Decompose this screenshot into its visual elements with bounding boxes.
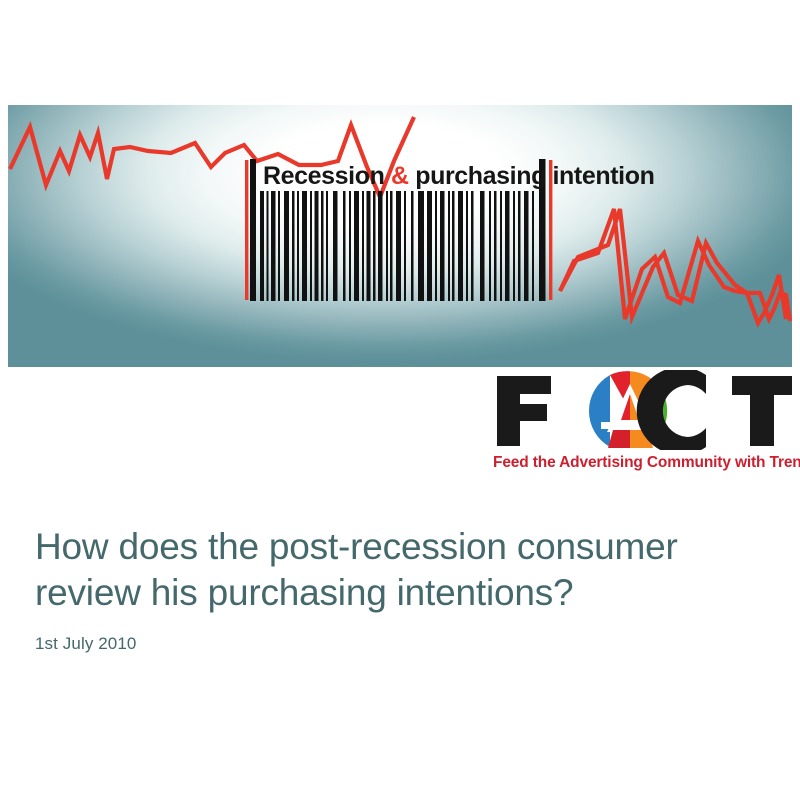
presentation-date: 1st July 2010 bbox=[35, 634, 765, 654]
logo-letter-c bbox=[637, 370, 740, 450]
barcode-caption: Recession & purchasing intention bbox=[263, 162, 654, 190]
barcode-guard-left bbox=[245, 160, 248, 300]
fact-wordmark bbox=[493, 370, 793, 450]
barcode-caption-before: Recession bbox=[263, 162, 391, 190]
barcode-graphic: Recession & purchasing intention bbox=[245, 159, 654, 301]
logo-letter-t bbox=[732, 376, 792, 446]
barcode-bars bbox=[260, 191, 534, 301]
page-title: How does the post-recession consumer rev… bbox=[35, 524, 765, 616]
fact-logo-mark bbox=[493, 370, 793, 450]
hero-banner-image: Recession & purchasing intention bbox=[8, 105, 792, 367]
chart-line-right-tail bbox=[560, 209, 786, 323]
title-block: How does the post-recession consumer rev… bbox=[35, 524, 765, 654]
barcode-caption-ampersand: & bbox=[391, 162, 409, 190]
barcode-caption-after: purchasing intention bbox=[409, 162, 655, 190]
hero-banner-artwork: Recession & purchasing intention bbox=[8, 105, 792, 367]
chart-line-right bbox=[560, 209, 790, 321]
fact-logo: Feed the Advertising Community with Tren… bbox=[493, 370, 793, 478]
fact-tagline: Feed the Advertising Community with Tren… bbox=[493, 454, 793, 472]
logo-letter-f bbox=[497, 376, 551, 446]
